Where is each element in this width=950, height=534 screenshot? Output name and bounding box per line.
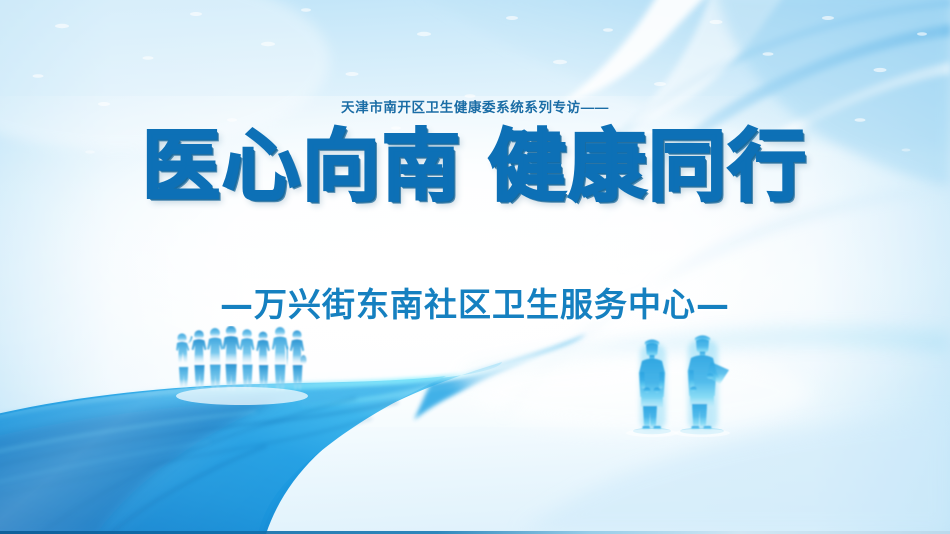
graphic-doctor-silhouettes — [620, 330, 746, 448]
graphic-crowd-silhouettes — [168, 326, 318, 412]
poster-stage: 天津市南开区卫生健康委系统系列专访—— 医心向南健康同行 —万兴街东南社区卫生服… — [0, 0, 950, 534]
graphic-curving-road — [0, 0, 950, 534]
